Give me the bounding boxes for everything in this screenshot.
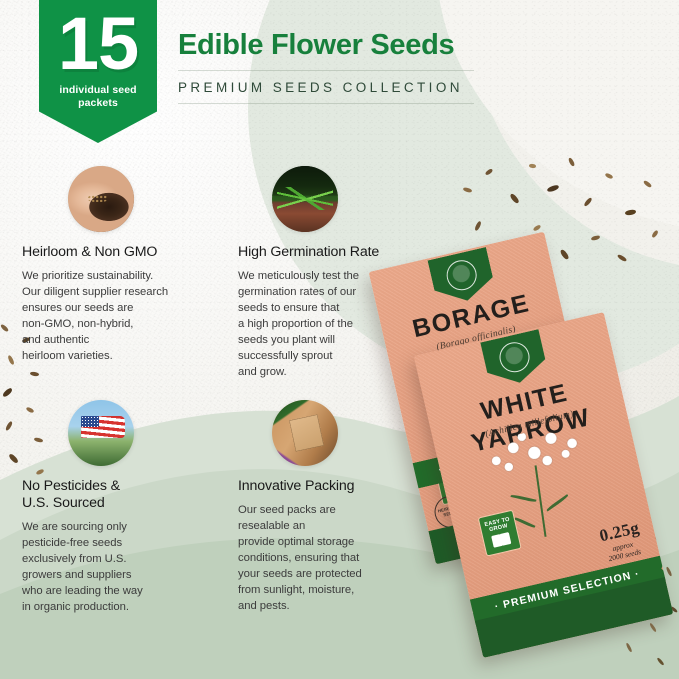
feature-high-germination-rate: High Germination Rate We meticulously te… (238, 166, 430, 380)
leaf-icon (491, 532, 511, 548)
packet-count-caption: individual seed packets (59, 84, 136, 110)
feature-no-pesticides-us-sourced: No Pesticides & U.S. Sourced We are sour… (22, 400, 214, 615)
plant-leaf (510, 494, 536, 503)
seed-packet-photo (272, 400, 338, 466)
title-divider-bottom (178, 103, 474, 104)
feature-body: We are sourcing only pesticide-free seed… (22, 519, 214, 615)
sprouting-seedlings-photo (272, 166, 338, 232)
page-subtitle: PREMIUM SEEDS COLLECTION (178, 71, 508, 103)
feature-title: High Germination Rate (238, 244, 430, 261)
feature-body: Our seed packs are resealable an provide… (238, 502, 430, 614)
packet-count-number: 15 (58, 8, 138, 80)
feature-innovative-packing: Innovative Packing Our seed packs are re… (238, 400, 430, 614)
packet-weight-info: 0.25g approx 2000 seeds (598, 518, 646, 565)
american-flag-photo (68, 400, 134, 466)
hand-holding-seeds-photo (68, 166, 134, 232)
product-infographic: BORAGE (Borago officinalis) EASY TO GROW… (0, 0, 679, 679)
feature-title: Heirloom & Non GMO (22, 244, 214, 261)
page-title: Edible Flower Seeds (178, 30, 508, 60)
seed-packet-white-yarrow[interactable]: WHITE YARROW (Achillea millefolium) EASY… (414, 312, 674, 658)
feature-body: We prioritize sustainability. Our dilige… (22, 268, 214, 364)
header: Edible Flower Seeds PREMIUM SEEDS COLLEC… (178, 30, 508, 104)
feature-heirloom-non-gmo: Heirloom & Non GMO We prioritize sustain… (22, 166, 214, 364)
brand-logo-badge (480, 329, 549, 389)
logo-ring-icon (496, 339, 532, 375)
plant-leaf (514, 517, 535, 529)
feature-body: We meticulously test the germination rat… (238, 268, 430, 380)
plant-leaf (545, 494, 568, 511)
feature-title: Innovative Packing (238, 478, 430, 495)
logo-ring-icon (444, 257, 480, 293)
feature-title: No Pesticides & U.S. Sourced (22, 478, 214, 512)
